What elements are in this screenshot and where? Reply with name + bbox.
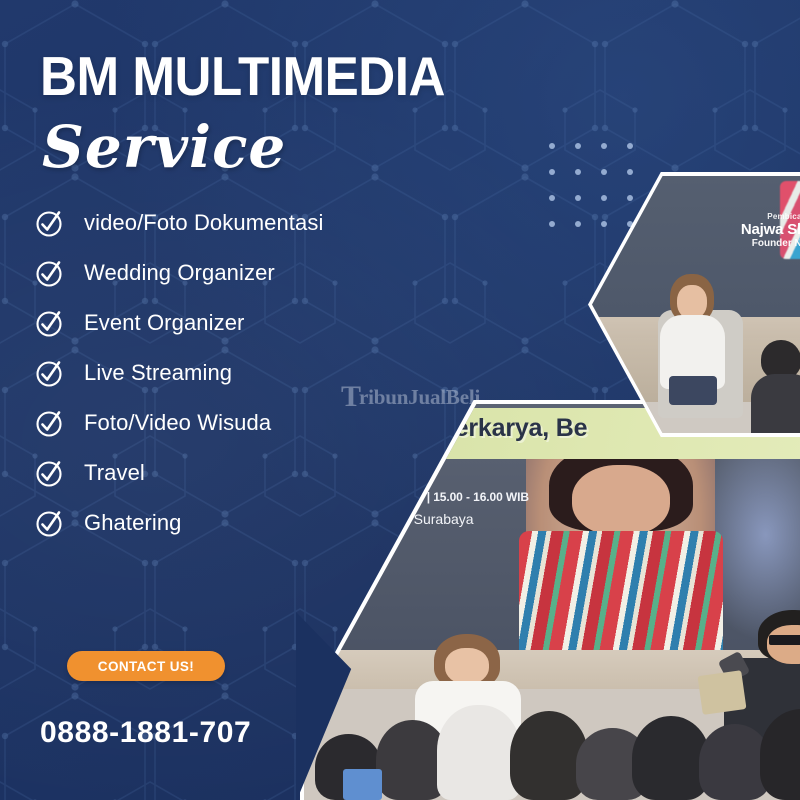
navy-chevron-accent [296, 612, 416, 800]
speaker-name: Najwa Shihab [499, 677, 607, 698]
moderator-org: Public Affairs & Communication Lead Nar [715, 697, 800, 714]
service-label: video/Foto Dokumentasi [84, 210, 323, 236]
promo-poster: BM MULTIMEDIA Service video/Foto Dokumen… [0, 0, 800, 800]
check-circle-icon [34, 358, 64, 388]
list-item: Live Streaming [34, 348, 454, 398]
stage-role: Pembicara [741, 212, 800, 221]
screen-portrait [526, 452, 715, 674]
service-label: Foto/Video Wisuda [84, 410, 271, 436]
list-item: Event Organizer [34, 298, 454, 348]
stage-org: Founder Narasi [741, 238, 800, 250]
check-circle-icon [34, 258, 64, 288]
service-label: Live Streaming [84, 360, 232, 386]
stage-screen-credit: Pembicara Najwa Shihab Founder Narasi [741, 212, 800, 250]
list-item: Foto/Video Wisuda [34, 398, 454, 448]
list-item: Ghatering [34, 498, 454, 548]
seated-speaker-figure [658, 274, 729, 403]
dot-grid-decoration [549, 143, 653, 247]
check-circle-icon [34, 508, 64, 538]
service-list: video/Foto Dokumentasi Wedding Organizer… [34, 198, 454, 548]
speaker-org: Founder Narasi [499, 698, 607, 711]
seated-speaker [421, 634, 516, 753]
service-label: Ghatering [84, 510, 182, 536]
check-circle-icon [34, 208, 64, 238]
speaker-credit: Pembicara Najwa Shihab Founder Narasi [499, 665, 607, 710]
service-label: Wedding Organizer [84, 260, 275, 286]
service-label: Event Organizer [84, 310, 244, 336]
contact-us-button[interactable]: CONTACT US! [67, 651, 225, 681]
check-circle-icon [34, 458, 64, 488]
microphone-icon [718, 651, 751, 684]
list-item: Wedding Organizer [34, 248, 454, 298]
stage-name: Najwa Shihab [741, 221, 800, 238]
list-item: video/Foto Dokumentasi [34, 198, 454, 248]
audience-crowd [304, 697, 800, 800]
page-title: BM MULTIMEDIA [40, 48, 477, 104]
service-label: Travel [84, 460, 145, 486]
moderator-figure [738, 610, 800, 760]
list-item: Travel [34, 448, 454, 498]
moderator-role: Moderator [715, 665, 800, 676]
subtitle-script: Service [42, 118, 286, 176]
check-circle-icon [34, 408, 64, 438]
check-circle-icon [34, 308, 64, 338]
moderator-name: Tian Tyo [715, 676, 800, 696]
contact-us-label: CONTACT US! [98, 659, 194, 674]
phone-number: 0888-1881-707 [40, 716, 251, 750]
foreground-audience [758, 340, 800, 433]
speaker-role: Pembicara [499, 665, 607, 676]
moderator-credit: Moderator Tian Tyo Public Affairs & Comm… [715, 665, 800, 713]
